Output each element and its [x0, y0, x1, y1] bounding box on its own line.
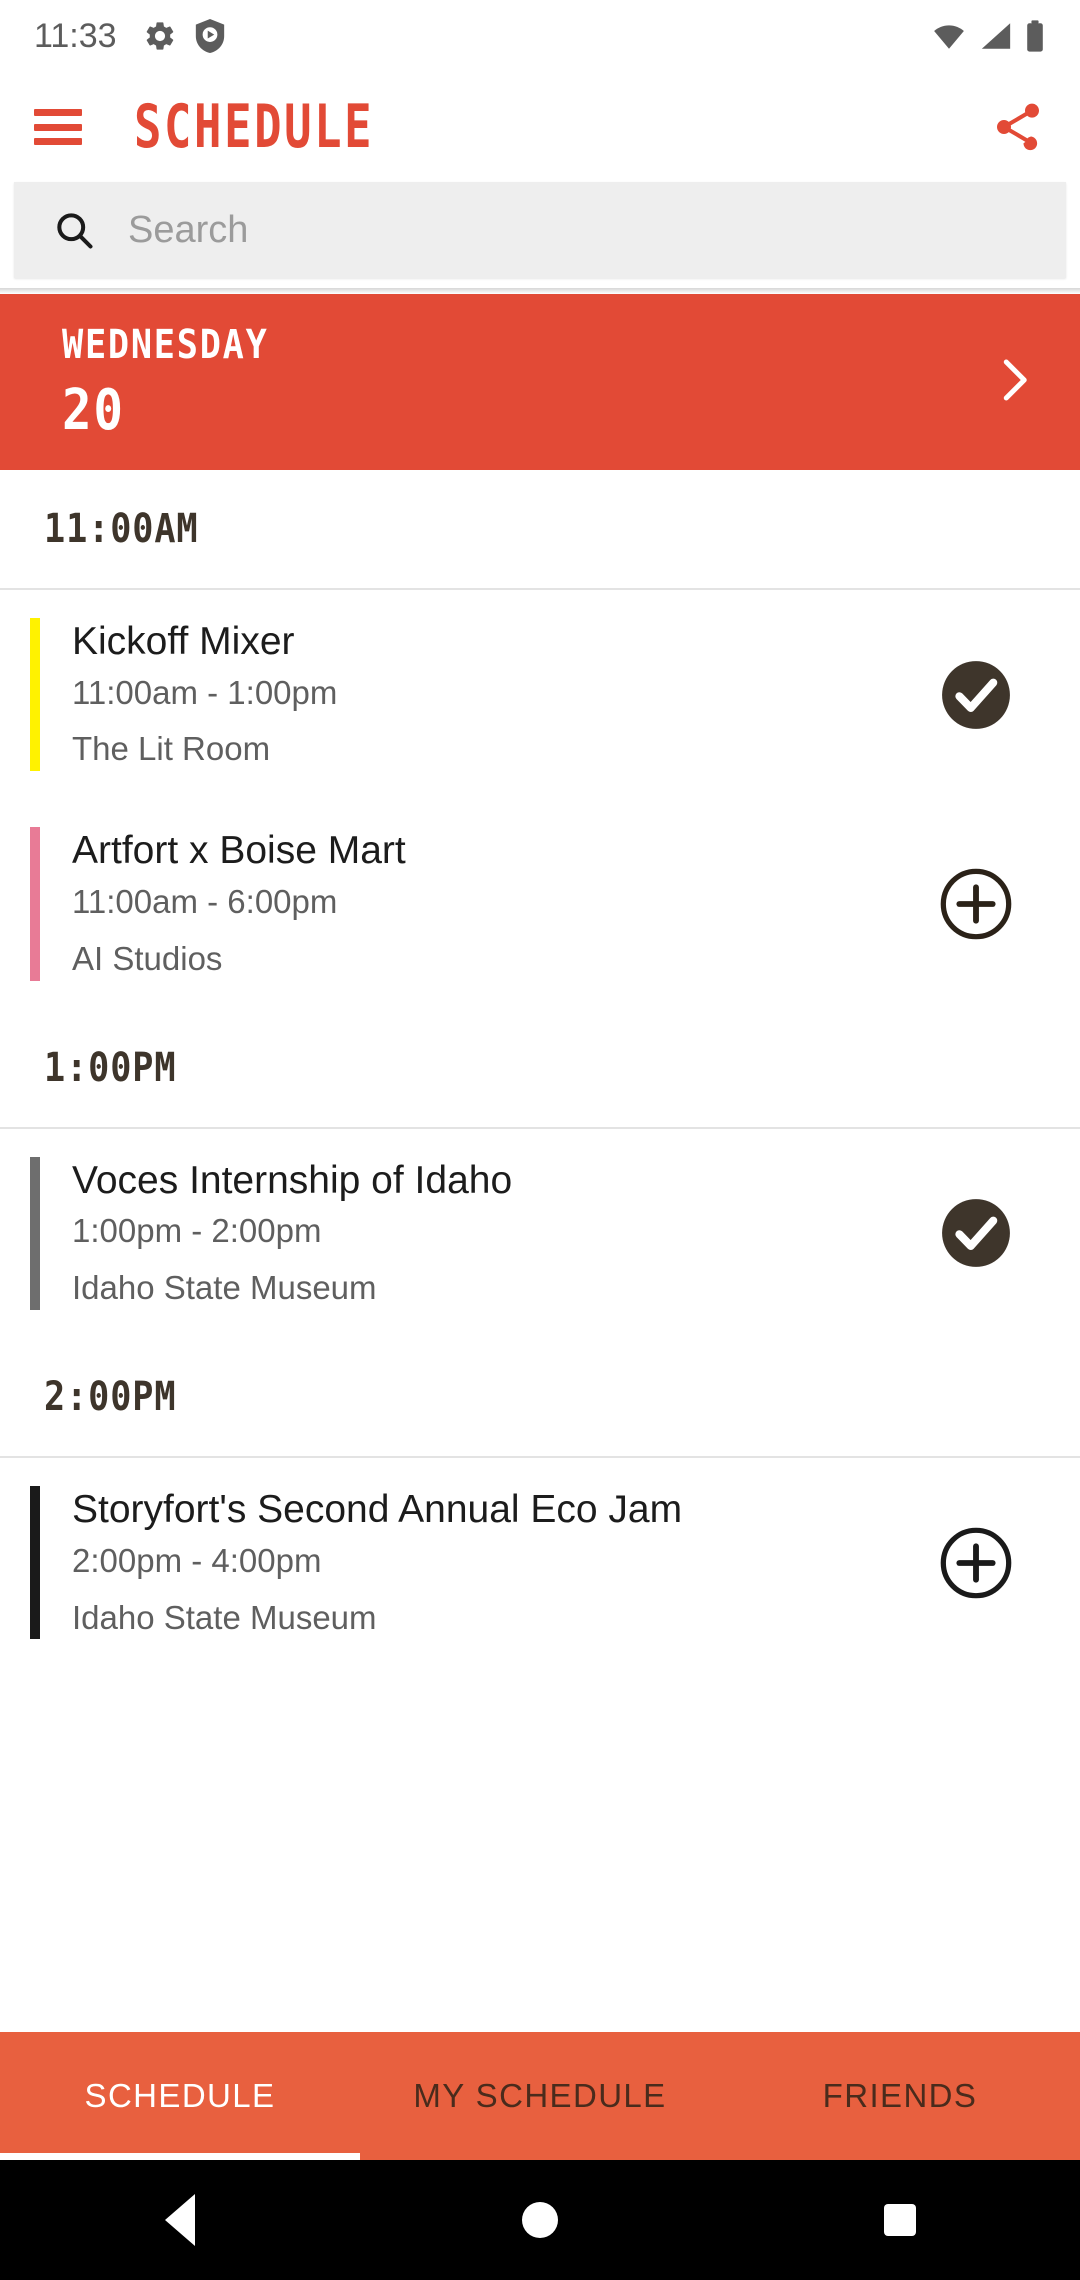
time-header-label: 11:00AM: [44, 506, 199, 552]
event-location: Idaho State Museum: [72, 1267, 928, 1310]
event-color-bar: [30, 1157, 40, 1310]
event-color-bar: [30, 827, 40, 980]
back-triangle-icon: [165, 2194, 195, 2246]
search-input[interactable]: [128, 209, 1028, 252]
time-header: 2:00PM: [0, 1338, 1080, 1458]
event-add-button[interactable]: [928, 856, 1024, 952]
time-header-label: 1:00PM: [44, 1045, 176, 1091]
event-location: AI Studios: [72, 938, 928, 981]
status-right-icons: [930, 19, 1046, 53]
tab-friends[interactable]: FRIENDS: [720, 2032, 1080, 2160]
nav-recents-button[interactable]: [840, 2160, 960, 2280]
gear-icon: [143, 19, 177, 53]
event-color-bar: [30, 618, 40, 771]
status-bar: 11:33: [0, 0, 1080, 72]
check-icon: [939, 658, 1013, 732]
event-time: 11:00am - 1:00pm: [72, 672, 928, 715]
tab-my-schedule[interactable]: MY SCHEDULE: [360, 2032, 720, 2160]
status-time: 11:33: [34, 17, 117, 56]
event-time: 11:00am - 6:00pm: [72, 881, 928, 924]
nav-home-button[interactable]: [480, 2160, 600, 2280]
event-row[interactable]: Kickoff Mixer 11:00am - 1:00pm The Lit R…: [0, 590, 1080, 799]
tab-label: FRIENDS: [823, 2077, 978, 2115]
search-bar[interactable]: [14, 182, 1066, 278]
android-nav-bar: [0, 2160, 1080, 2280]
home-circle-icon: [522, 2202, 558, 2238]
recents-square-icon: [884, 2204, 916, 2236]
battery-icon: [1024, 19, 1046, 53]
shield-play-icon: [195, 19, 225, 53]
event-details: Artfort x Boise Mart 11:00am - 6:00pm AI…: [40, 827, 928, 980]
event-time: 1:00pm - 2:00pm: [72, 1210, 928, 1253]
plus-icon: [939, 867, 1013, 941]
hamburger-icon[interactable]: [30, 105, 86, 149]
time-header: 11:00AM: [0, 470, 1080, 590]
share-icon: [990, 99, 1046, 155]
event-title: Kickoff Mixer: [72, 618, 928, 666]
next-day-button[interactable]: [986, 353, 1040, 412]
event-title: Storyfort's Second Annual Eco Jam: [72, 1486, 928, 1534]
event-location: Idaho State Museum: [72, 1597, 928, 1640]
event-added-button[interactable]: [928, 647, 1024, 743]
day-weekday: WEDNESDAY: [62, 322, 269, 368]
schedule-list: 11:00AM Kickoff Mixer 11:00am - 1:00pm T…: [0, 470, 1080, 1667]
event-details: Kickoff Mixer 11:00am - 1:00pm The Lit R…: [40, 618, 928, 771]
chevron-right-icon: [986, 353, 1040, 407]
time-header: 1:00PM: [0, 1009, 1080, 1129]
app-root: 11:33 S: [0, 0, 1080, 2280]
event-title: Voces Internship of Idaho: [72, 1157, 928, 1205]
tab-label: SCHEDULE: [85, 2077, 276, 2115]
time-header-label: 2:00PM: [44, 1374, 176, 1420]
tab-schedule[interactable]: SCHEDULE: [0, 2032, 360, 2160]
wifi-icon: [930, 19, 968, 53]
event-color-bar: [30, 1486, 40, 1639]
search-icon: [52, 208, 96, 252]
event-location: The Lit Room: [72, 728, 928, 771]
event-details: Voces Internship of Idaho 1:00pm - 2:00p…: [40, 1157, 928, 1310]
day-number: 20: [62, 378, 269, 443]
event-add-button[interactable]: [928, 1515, 1024, 1611]
event-details: Storyfort's Second Annual Eco Jam 2:00pm…: [40, 1486, 928, 1639]
event-time: 2:00pm - 4:00pm: [72, 1540, 928, 1583]
event-title: Artfort x Boise Mart: [72, 827, 928, 875]
app-bar: SCHEDULE: [0, 72, 1080, 182]
event-row[interactable]: Voces Internship of Idaho 1:00pm - 2:00p…: [0, 1129, 1080, 1338]
bottom-tab-bar: SCHEDULE MY SCHEDULE FRIENDS: [0, 2032, 1080, 2160]
event-row[interactable]: Artfort x Boise Mart 11:00am - 6:00pm AI…: [0, 799, 1080, 1008]
share-button[interactable]: [986, 95, 1050, 159]
check-icon: [939, 1196, 1013, 1270]
status-left-icons: [143, 19, 225, 53]
plus-icon: [939, 1526, 1013, 1600]
nav-back-button[interactable]: [120, 2160, 240, 2280]
day-banner[interactable]: WEDNESDAY 20: [0, 294, 1080, 470]
event-row[interactable]: Storyfort's Second Annual Eco Jam 2:00pm…: [0, 1458, 1080, 1667]
page-title: SCHEDULE: [134, 93, 374, 161]
search-container: [0, 182, 1080, 278]
tab-label: MY SCHEDULE: [413, 2077, 666, 2115]
event-added-button[interactable]: [928, 1185, 1024, 1281]
day-banner-text: WEDNESDAY 20: [62, 322, 297, 443]
signal-icon: [978, 19, 1014, 53]
